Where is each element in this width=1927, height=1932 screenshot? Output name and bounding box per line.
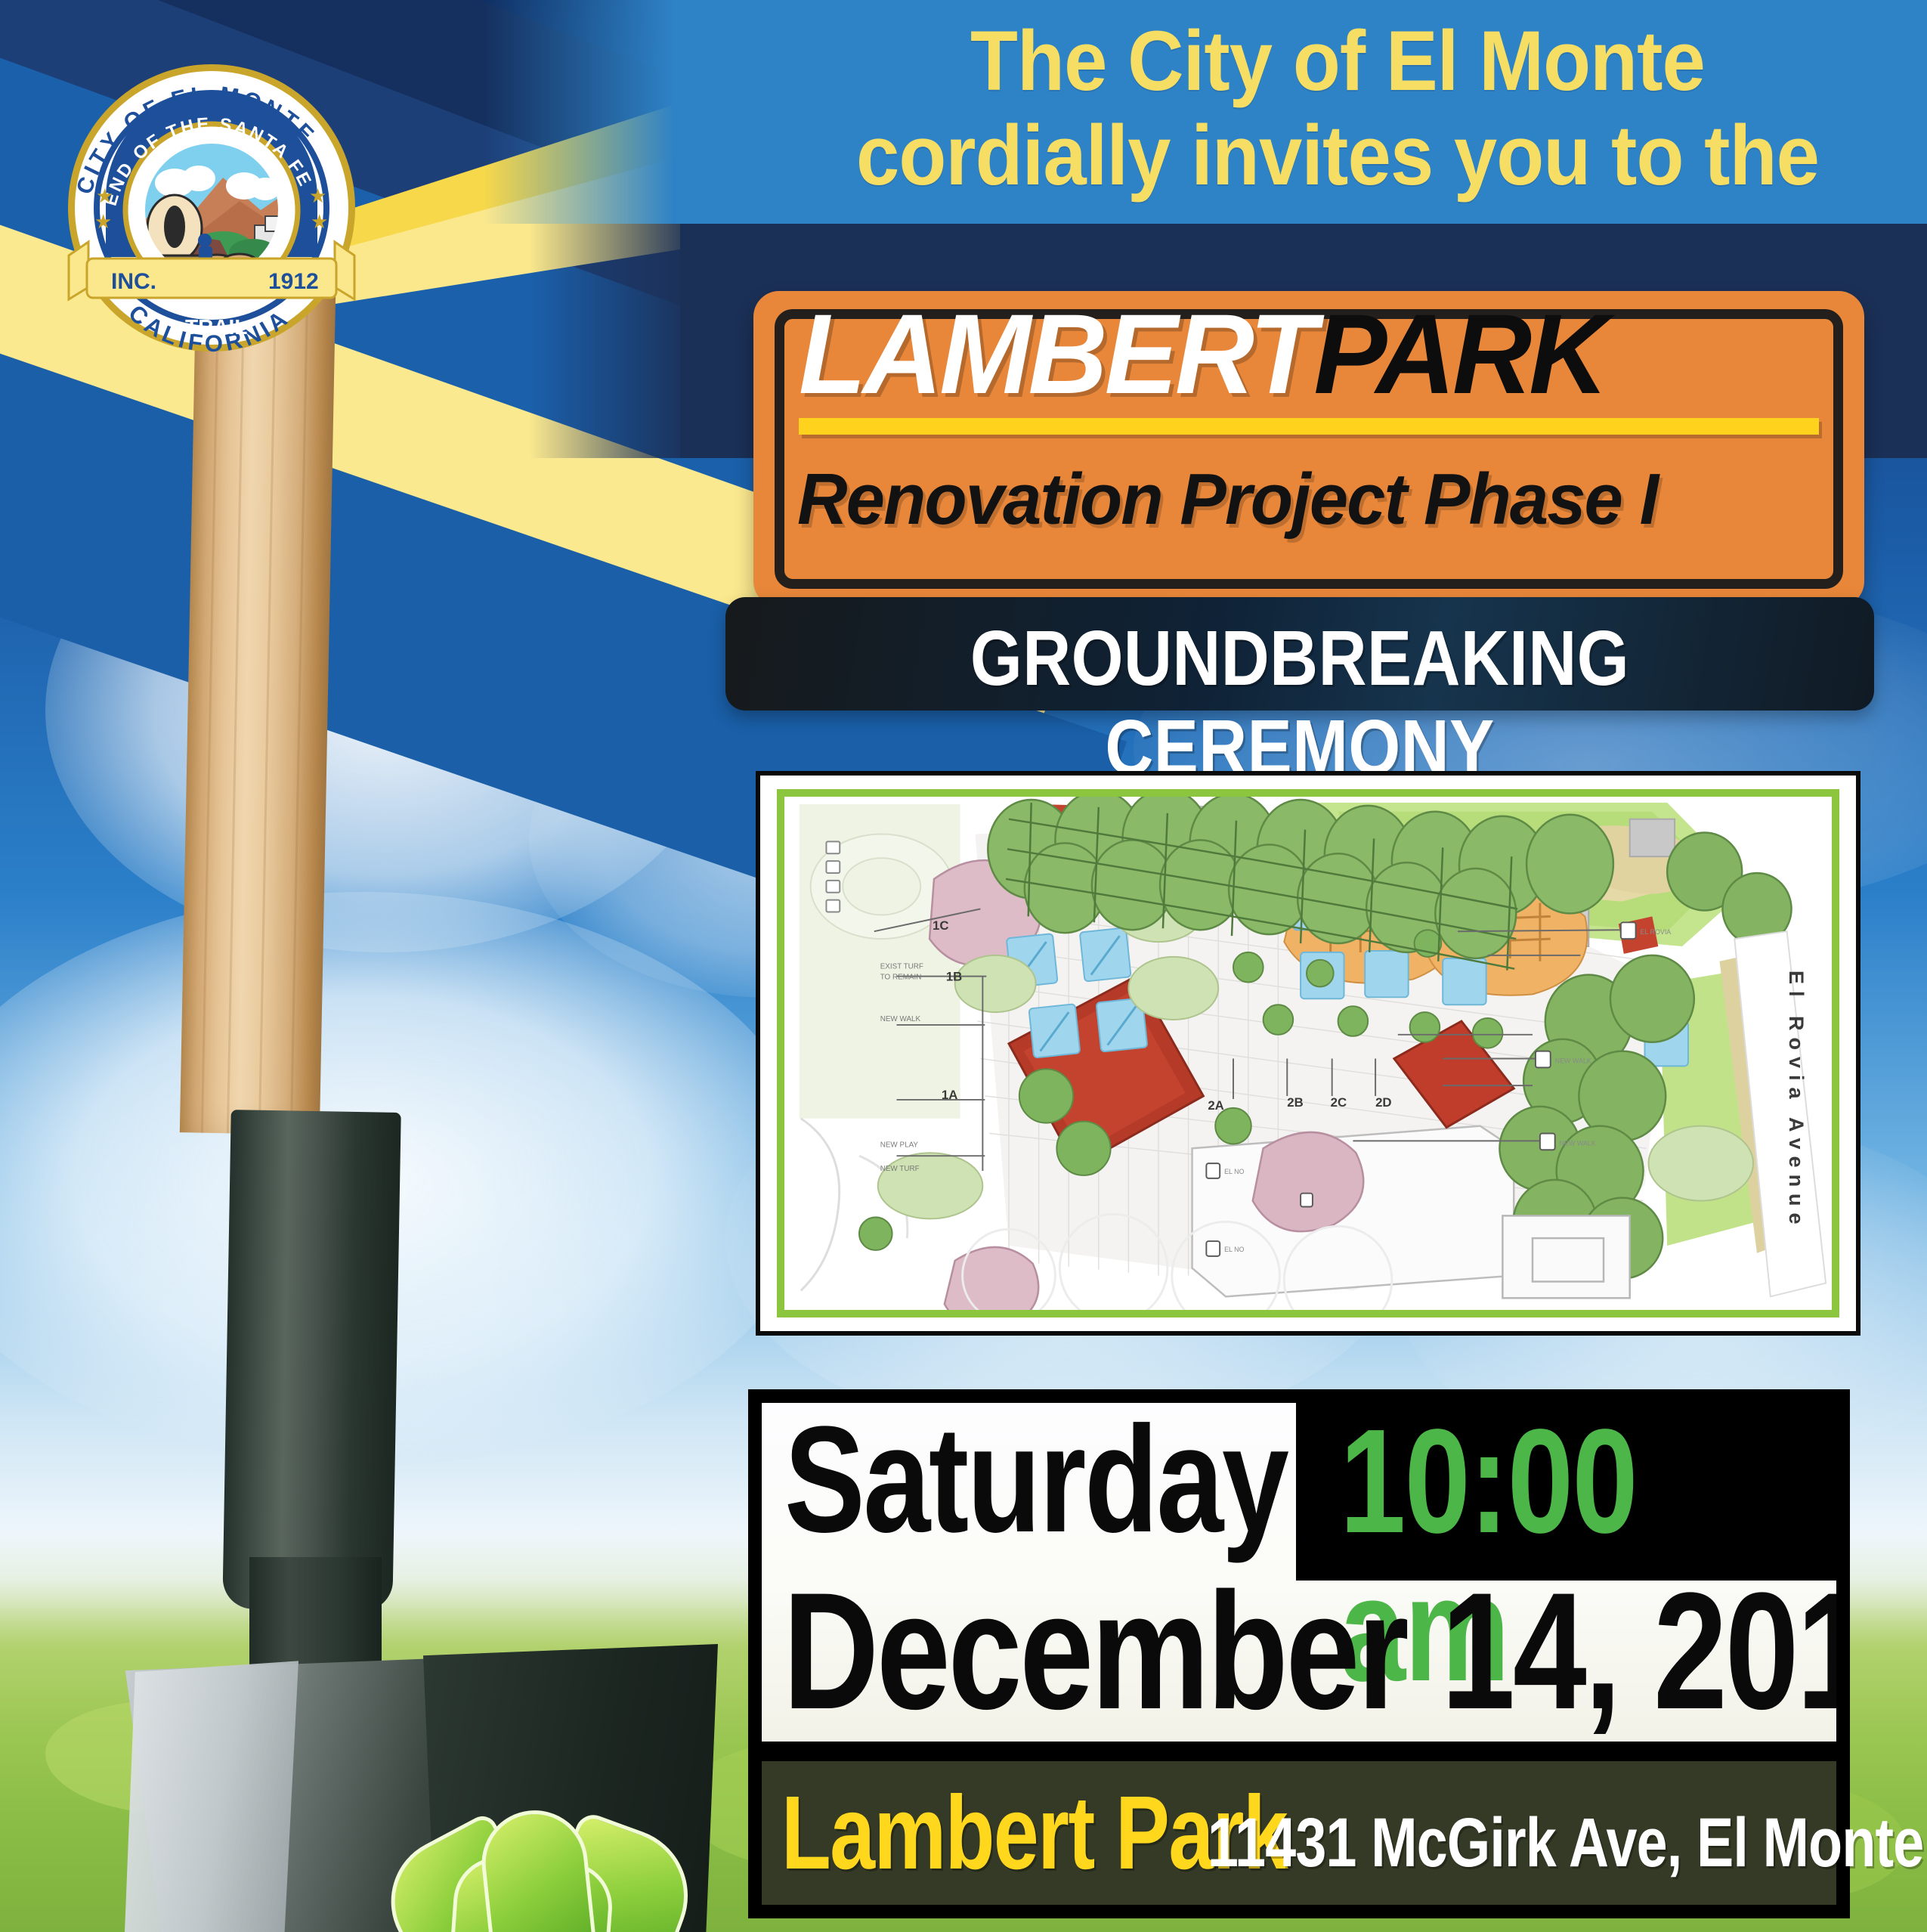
- event-details-block: Saturday 10:00 am December 14, 2019 Lamb…: [748, 1389, 1850, 1918]
- invitation-poster: CITY OF EL MONTE END OF THE SANTA FE CAL…: [0, 0, 1927, 1932]
- svg-text:★: ★: [311, 210, 328, 233]
- svg-text:★: ★: [309, 184, 326, 207]
- plan-callout: 1A: [942, 1088, 957, 1102]
- svg-text:NEW WALK: NEW WALK: [1555, 1057, 1591, 1064]
- plan-callout: 1C: [933, 918, 949, 933]
- svg-text:NEW TURF: NEW TURF: [880, 1165, 920, 1173]
- seal-ribbon-left: INC.: [111, 269, 156, 294]
- shovel-blade-highlight: [125, 1655, 298, 1932]
- event-venue-address: 11431 McGirk Ave, El Monte: [1208, 1808, 1923, 1878]
- svg-text:★: ★: [94, 210, 112, 233]
- svg-text:EL NO: EL NO: [1224, 1246, 1244, 1253]
- plan-callout: 1B: [946, 970, 962, 984]
- seal-ribbon-right: 1912: [268, 269, 319, 294]
- plan-callout: 2B: [1287, 1095, 1304, 1110]
- header-line-2: cordially invites you to the: [809, 108, 1866, 203]
- event-day: Saturday: [784, 1404, 1287, 1556]
- svg-text:NEW WALK: NEW WALK: [1560, 1139, 1596, 1147]
- svg-text:EL NO: EL NO: [1224, 1168, 1244, 1175]
- svg-text:EL ROVIA: EL ROVIA: [1641, 928, 1672, 936]
- sign-title-park: PARK: [1313, 290, 1605, 417]
- invitation-header: The City of El Monte cordially invites y…: [809, 14, 1866, 203]
- sign-subtitle: Renovation Project Phase I: [797, 462, 1792, 538]
- plan-callout: 2C: [1331, 1095, 1347, 1110]
- plan-callout: 2A: [1208, 1098, 1224, 1113]
- ceremony-banner: GROUNDBREAKING CEREMONY: [725, 597, 1874, 711]
- svg-text:★: ★: [96, 184, 113, 207]
- ceremony-banner-text: GROUNDBREAKING CEREMONY: [806, 614, 1793, 792]
- event-venue-bar: Lambert Park 11431 McGirk Ave, El Monte: [762, 1761, 1836, 1905]
- site-plan-drawing: 1C 1B 1A 2A 2B 2C 2D EXIST TURF TO REMAI…: [784, 797, 1832, 1313]
- svg-text:NEW PLAY: NEW PLAY: [880, 1141, 919, 1149]
- sign-title: LAMBERTPARK: [799, 297, 1796, 410]
- plan-callout: 2D: [1375, 1095, 1392, 1110]
- header-line-1: The City of El Monte: [809, 14, 1866, 108]
- seal-ribbon-center: TRAIL: [185, 315, 247, 339]
- city-seal-logo: CITY OF EL MONTE END OF THE SANTA FE CAL…: [42, 38, 382, 378]
- sign-yellow-rule: [799, 418, 1819, 435]
- site-plan-street-label: El Rovia Avenue: [1784, 971, 1808, 1231]
- event-date-panel: Saturday 10:00 am December 14, 2019: [762, 1403, 1836, 1742]
- svg-text:EXIST TURF: EXIST TURF: [880, 963, 923, 971]
- event-time-box: 10:00 am: [1296, 1403, 1836, 1581]
- site-plan-frame: 1C 1B 1A 2A 2B 2C 2D EXIST TURF TO REMAI…: [756, 771, 1860, 1336]
- header-band-fade: [484, 0, 801, 224]
- site-plan-green-border: 1C 1B 1A 2A 2B 2C 2D EXIST TURF TO REMAI…: [777, 789, 1839, 1317]
- svg-text:TO REMAIN: TO REMAIN: [880, 974, 922, 982]
- shovel-shaft: [222, 1110, 401, 1612]
- event-date: December 14, 2019: [783, 1568, 1836, 1734]
- svg-text:NEW WALK: NEW WALK: [880, 1015, 921, 1023]
- project-sign: LAMBERTPARK Renovation Project Phase I: [753, 291, 1864, 607]
- sign-title-lambert: LAMBERT: [799, 290, 1313, 417]
